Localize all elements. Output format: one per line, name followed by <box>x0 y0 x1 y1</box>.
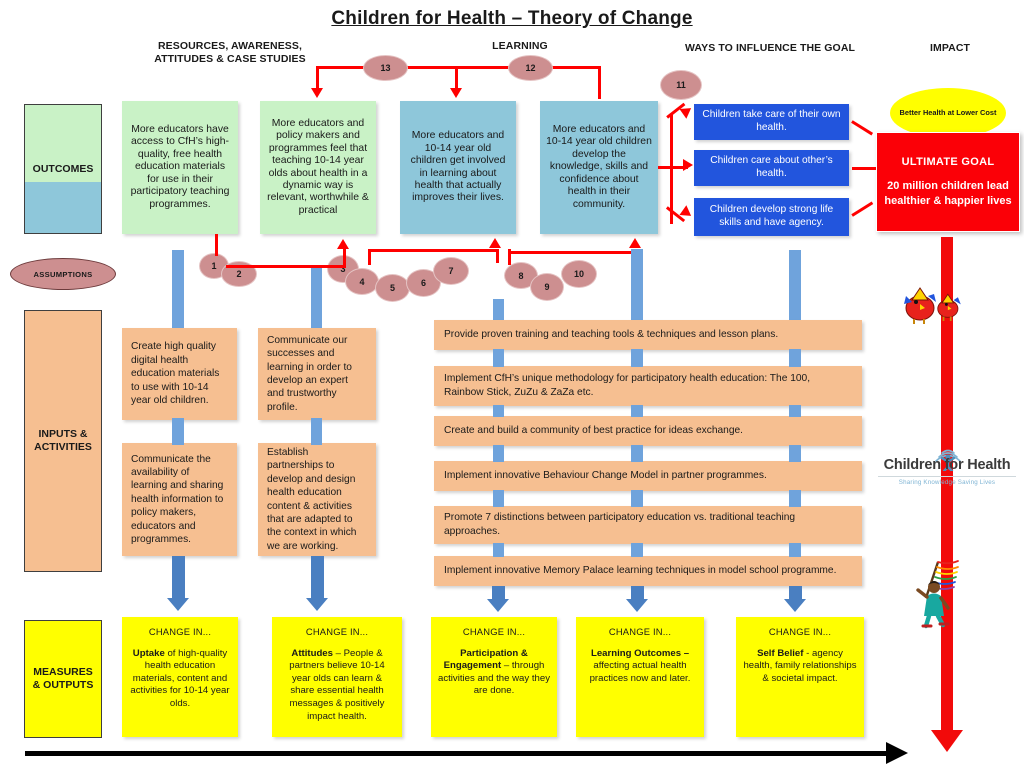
row-label-outcomes-text: OUTCOMES <box>33 163 94 176</box>
assumption-circle-11[interactable]: 11 <box>660 70 702 100</box>
connector-act-c3-g4 <box>789 490 801 507</box>
children-for-health-logo: Children for Health Sharing Knowledge Sa… <box>872 445 1022 491</box>
measure-bold-5: Self Belief <box>757 648 803 659</box>
assumption-circle-5[interactable]: 5 <box>375 274 410 302</box>
connector-act-c2-g1 <box>631 349 643 367</box>
red-converge-mid <box>852 167 876 170</box>
measures-arrow-head-2 <box>306 598 328 611</box>
measures-arrow-head-1 <box>167 598 189 611</box>
connector-act-c3-g1 <box>789 349 801 367</box>
timeline-arrow-line <box>25 751 890 756</box>
measures-arrow-head-4 <box>626 599 648 612</box>
measure-bold-4: Learning Outcomes – <box>591 648 689 659</box>
connector-act-c1-g1 <box>493 349 504 367</box>
measures-arrow-head-5 <box>784 599 806 612</box>
connector-act-c1-g3 <box>493 445 504 462</box>
measure-head-3: CHANGE IN... <box>463 626 525 639</box>
measure-head-5: CHANGE IN... <box>769 626 831 639</box>
red-connector-right-stem <box>598 66 601 99</box>
outcome-box-4[interactable]: More educators and 10-14 year old childr… <box>540 101 658 234</box>
measure-box-3[interactable]: CHANGE IN... Participation & Engagement … <box>431 617 557 737</box>
connector-act-c3-g3 <box>789 445 801 462</box>
assumption-circle-13[interactable]: 13 <box>363 55 408 81</box>
assumption-circle-9[interactable]: 9 <box>530 273 564 301</box>
connector-input-col1 <box>172 418 184 445</box>
influence-goal-box-3[interactable]: Children develop strong life skills and … <box>694 198 849 236</box>
red-connector-top-horizontal <box>316 66 601 69</box>
column-header-learning: LEARNING <box>460 40 580 53</box>
outcome-box-2[interactable]: More educators and policy makers and pro… <box>260 101 376 234</box>
connector-act-c2-g5 <box>631 543 643 557</box>
measure-body-5: Self Belief - agency health, family rela… <box>743 648 857 686</box>
row-label-assumptions-text: ASSUMPTIONS <box>34 270 93 279</box>
connector-act-c1-g5 <box>493 543 504 557</box>
activity-bar-5[interactable]: Promote 7 distinctions between participa… <box>434 506 862 544</box>
measure-box-5[interactable]: CHANGE IN... Self Belief - agency health… <box>736 617 864 737</box>
red-elbow-v-4a <box>508 249 511 265</box>
column-header-impact: IMPACT <box>900 42 1000 55</box>
row-label-assumptions: ASSUMPTIONS <box>10 258 116 290</box>
connector-act-c2-g2 <box>631 405 643 417</box>
measures-arrow-head-3 <box>487 599 509 612</box>
timeline-arrow-head <box>886 742 908 764</box>
connector-bar-col4 <box>631 249 643 323</box>
measure-body-4: Learning Outcomes – affecting actual hea… <box>583 648 697 686</box>
red-converge-lower <box>851 201 873 216</box>
red-elbow-v-3b <box>496 249 499 263</box>
ultimate-goal-text: 20 million children lead healthier & hap… <box>883 179 1013 209</box>
measure-box-2[interactable]: CHANGE IN... Attitudes – People & partne… <box>272 617 402 737</box>
measure-bold-1: Uptake <box>133 648 165 659</box>
measure-body-2: Attitudes – People & partners believe 10… <box>279 648 395 724</box>
outcome-box-3[interactable]: More educators and 10-14 year old childr… <box>400 101 516 234</box>
page-title: Children for Health – Theory of Change <box>0 8 1024 30</box>
assumption-circle-7[interactable]: 7 <box>433 257 469 285</box>
red-arrowhead-down-left <box>311 88 323 98</box>
activity-bar-4[interactable]: Implement innovative Behaviour Change Mo… <box>434 461 862 491</box>
measures-arrow-stem-2 <box>311 556 324 601</box>
ultimate-goal-box[interactable]: ULTIMATE GOAL 20 million children lead h… <box>876 132 1020 232</box>
child-with-rainbow-stick-illustration <box>912 552 970 630</box>
red-elbow-v-3a <box>368 249 371 265</box>
measure-bold-2: Attitudes <box>291 648 333 659</box>
measure-box-4[interactable]: CHANGE IN... Learning Outcomes – affecti… <box>576 617 704 737</box>
activity-bar-3[interactable]: Create and build a community of best pra… <box>434 416 862 446</box>
red-elbow-h-3 <box>368 249 498 252</box>
connector-act-c2-g3 <box>631 445 643 462</box>
logo-divider <box>878 476 1016 477</box>
connector-act-c3-g5 <box>789 543 801 557</box>
assumption-circle-12[interactable]: 12 <box>508 55 553 81</box>
impact-ellipse: Better Health at Lower Cost <box>890 88 1006 138</box>
red-elbow-h-4 <box>508 251 638 254</box>
measures-arrow-stem-1 <box>172 556 185 601</box>
impact-down-arrow-head <box>931 730 963 752</box>
column-header-resources: RESOURCES, AWARENESS, ATTITUDES & CASE S… <box>140 40 320 66</box>
red-arrowhead-down-mid <box>450 88 462 98</box>
activity-bar-6[interactable]: Implement innovative Memory Palace learn… <box>434 556 862 586</box>
activity-bar-1[interactable]: Provide proven training and teaching too… <box>434 320 862 350</box>
red-arrowhead-up-2 <box>337 239 349 249</box>
red-arrowhead-goal-2 <box>683 159 693 171</box>
input-box-4[interactable]: Establish partnerships to develop and de… <box>258 443 376 556</box>
column-header-ways-to-influence: WAYS TO INFLUENCE THE GOAL <box>670 42 870 55</box>
input-box-3[interactable]: Communicate the availability of learning… <box>122 443 237 556</box>
birds-illustration <box>898 282 968 326</box>
measure-body-1: Uptake of high-quality health education … <box>129 648 231 711</box>
measure-rest-4: affecting actual health practices now an… <box>590 660 691 684</box>
row-label-measures-outputs: MEASURES & OUTPUTS <box>24 620 102 738</box>
theory-of-change-diagram: Children for Health – Theory of Change R… <box>0 0 1024 767</box>
connector-act-c2-g4 <box>631 490 643 507</box>
connector-act-c1-g4 <box>493 490 504 507</box>
influence-goal-box-1[interactable]: Children take care of their own health. <box>694 104 849 140</box>
logo-tagline: Sharing Knowledge Saving Lives <box>872 479 1022 486</box>
row-label-inputs-activities: INPUTS & ACTIVITIES <box>24 310 102 572</box>
connector-bar-col5 <box>789 250 801 325</box>
red-arrowhead-up-3 <box>489 238 501 248</box>
connector-bar-col1 <box>172 250 184 328</box>
connector-act-c1-g2 <box>493 405 504 417</box>
measure-head-1: CHANGE IN... <box>149 626 211 639</box>
impact-ellipse-text: Better Health at Lower Cost <box>900 108 997 118</box>
row-label-inputs-text: INPUTS & ACTIVITIES <box>34 428 92 454</box>
measure-box-1[interactable]: CHANGE IN... Uptake of high-quality heal… <box>122 617 238 737</box>
logo-name: Children for Health <box>884 457 1011 473</box>
input-box-1[interactable]: Create high quality digital health educa… <box>122 328 237 420</box>
influence-goal-box-2[interactable]: Children care about other’s health. <box>694 150 849 186</box>
red-arrowhead-up-4 <box>629 238 641 248</box>
measure-head-4: CHANGE IN... <box>609 626 671 639</box>
red-elbow-h-2 <box>226 265 346 268</box>
red-converge-upper <box>851 120 873 135</box>
assumption-circle-4[interactable]: 4 <box>345 268 379 295</box>
input-box-2[interactable]: Communicate our successes and learning i… <box>258 328 376 420</box>
connector-act-c3-g2 <box>789 405 801 417</box>
activity-bar-2[interactable]: Implement CfH’s unique methodology for p… <box>434 366 862 406</box>
row-label-outcomes: OUTCOMES <box>24 104 102 234</box>
red-elbow-v-2 <box>343 248 346 266</box>
connector-bar-col2 <box>311 268 322 328</box>
measure-head-2: CHANGE IN... <box>306 626 368 639</box>
measure-body-3: Participation & Engagement – through act… <box>438 648 550 698</box>
red-up-stem-1 <box>215 234 218 256</box>
connector-input-col2 <box>311 418 322 445</box>
row-label-measures-text: MEASURES & OUTPUTS <box>33 666 94 692</box>
assumption-circle-10[interactable]: 10 <box>561 260 597 288</box>
ultimate-goal-title: ULTIMATE GOAL <box>902 155 995 170</box>
outcome-box-1[interactable]: More educators have access to CfH’s high… <box>122 101 238 234</box>
